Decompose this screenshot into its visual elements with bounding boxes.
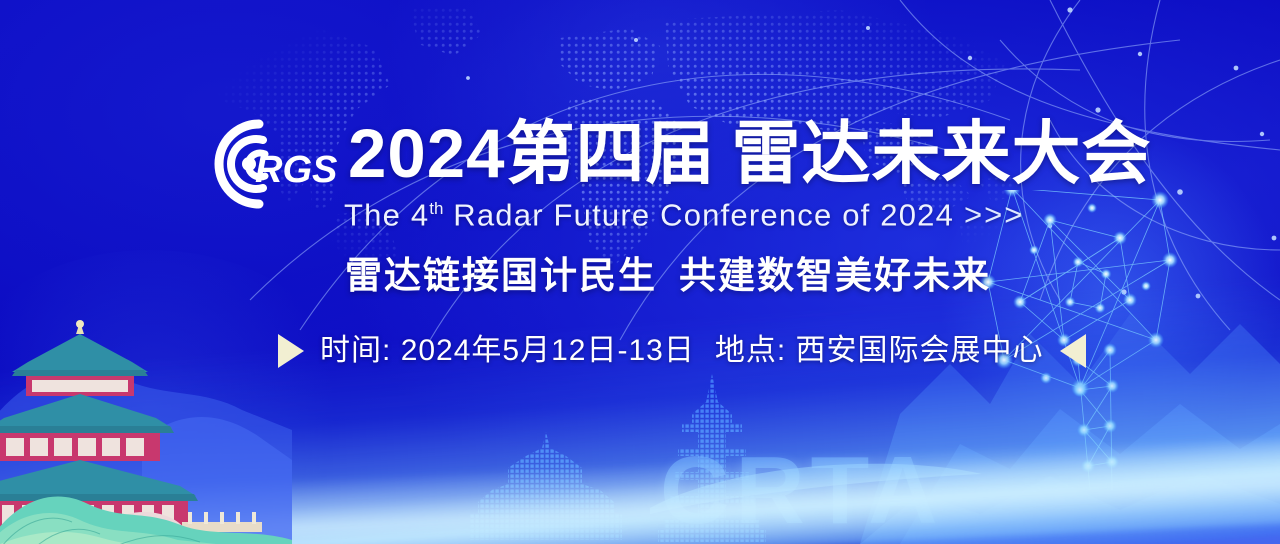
time-label: 时间: xyxy=(320,334,391,367)
place-value: 西安国际会展中心 xyxy=(796,334,1044,367)
rgs-radar-logo: RGS xyxy=(193,116,341,212)
slogan-right: 共建数智美好未来 xyxy=(679,255,991,296)
play-triangle-right-icon xyxy=(278,334,304,368)
event-info-text: 时间: 2024年5月12日-13日地点: 西安国际会展中心 xyxy=(320,331,1044,371)
title-year-edition: 2024第四届 xyxy=(348,115,716,192)
banner-main-title: 2024第四届雷达未来大会 xyxy=(348,114,1152,194)
subtitle-ordinal-suffix: th xyxy=(429,199,443,218)
play-triangle-left-icon xyxy=(1060,334,1086,368)
title-conference-name: 雷达未来大会 xyxy=(732,115,1152,192)
time-value: 2024年5月12日-13日 xyxy=(401,334,695,367)
banner-english-subtitle: The 4th Radar Future Conference of 2024>… xyxy=(344,190,1024,234)
conference-banner: CRTA xyxy=(0,0,1280,544)
place-label: 地点: xyxy=(715,334,786,367)
chevron-right-icon: >>> xyxy=(964,197,1024,232)
event-info-line: 时间: 2024年5月12日-13日地点: 西安国际会展中心 xyxy=(278,331,1086,371)
banner-slogan: 雷达链接国计民生共建数智美好未来 xyxy=(345,250,991,302)
slogan-left: 雷达链接国计民生 xyxy=(345,255,657,296)
subtitle-rest: Radar Future Conference of 2024 xyxy=(443,197,954,232)
rgs-logo-text: RGS xyxy=(255,149,337,191)
subtitle-prefix: The 4 xyxy=(344,197,429,232)
